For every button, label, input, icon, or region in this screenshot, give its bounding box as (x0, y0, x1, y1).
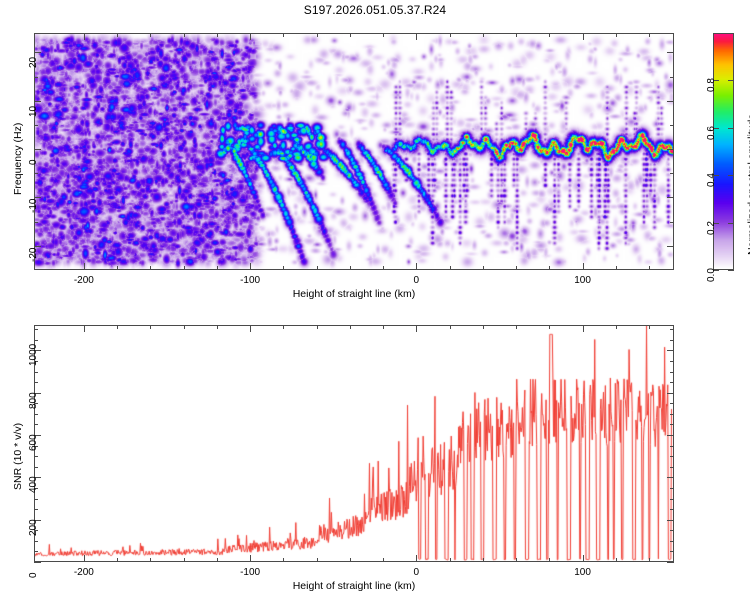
x-minor-tick (283, 33, 284, 37)
colorbar-tick (728, 128, 734, 129)
x-minor-tick (549, 325, 550, 329)
x-minor-tick (616, 33, 617, 37)
y-minor-tick (670, 382, 674, 383)
y-minor-tick (670, 77, 674, 78)
x-minor-tick (516, 558, 517, 562)
y-minor-tick (670, 499, 674, 500)
y-major-tick (667, 101, 674, 102)
y-minor-tick (670, 456, 674, 457)
x-minor-tick (184, 325, 185, 329)
y-major-tick (34, 52, 41, 53)
y-minor-tick (670, 372, 674, 373)
x-minor-tick (649, 33, 650, 37)
x-tick-label: 0 (386, 275, 446, 286)
x-minor-tick (150, 266, 151, 270)
x-minor-tick (450, 33, 451, 37)
spectrogram-x-axis-label: Height of straight line (km) (34, 288, 674, 300)
x-major-tick (416, 325, 417, 332)
y-tick-label: 0 (28, 160, 39, 166)
y-major-tick (667, 562, 674, 563)
y-minor-tick (34, 372, 38, 373)
x-minor-tick (616, 558, 617, 562)
y-tick-label: 1000 (28, 344, 39, 366)
y-minor-tick (34, 456, 38, 457)
colorbar-tick (728, 175, 734, 176)
y-minor-tick (34, 551, 38, 552)
x-minor-tick (283, 266, 284, 270)
x-minor-tick (383, 33, 384, 37)
x-minor-tick (483, 266, 484, 270)
y-minor-tick (670, 446, 674, 447)
x-minor-tick (317, 325, 318, 329)
x-minor-tick (350, 558, 351, 562)
x-tick-label: -100 (220, 567, 280, 578)
x-minor-tick (184, 266, 185, 270)
x-minor-tick (350, 266, 351, 270)
y-major-tick (667, 477, 674, 478)
y-minor-tick (670, 361, 674, 362)
x-minor-tick (184, 33, 185, 37)
x-major-tick (416, 263, 417, 270)
x-minor-tick (150, 325, 151, 329)
x-major-tick (250, 263, 251, 270)
figure-root: S197.2026.051.05.37.R24 -200-1000100 -20… (0, 0, 750, 600)
colorbar-tick-label: 0.4 (706, 173, 717, 187)
x-minor-tick (117, 325, 118, 329)
x-minor-tick (383, 325, 384, 329)
colorbar-tick-label: 0.8 (706, 78, 717, 92)
y-minor-tick (34, 541, 38, 542)
x-minor-tick (383, 266, 384, 270)
colorbar-tick (728, 270, 734, 271)
x-tick-label: 100 (553, 275, 613, 286)
snr-axes-frame (34, 325, 674, 562)
y-minor-tick (670, 551, 674, 552)
y-minor-tick (34, 173, 38, 174)
y-minor-tick (670, 541, 674, 542)
x-major-tick (583, 33, 584, 40)
spectrogram-image (35, 34, 673, 269)
y-major-tick (667, 435, 674, 436)
x-minor-tick (483, 325, 484, 329)
y-minor-tick (670, 530, 674, 531)
x-major-tick (583, 555, 584, 562)
y-major-tick (667, 246, 674, 247)
x-tick-label: -100 (220, 275, 280, 286)
x-minor-tick (217, 33, 218, 37)
y-minor-tick (34, 382, 38, 383)
x-minor-tick (217, 325, 218, 329)
y-minor-tick (670, 403, 674, 404)
y-minor-tick (34, 77, 38, 78)
x-minor-tick (483, 33, 484, 37)
y-major-tick (34, 562, 41, 563)
x-minor-tick (317, 33, 318, 37)
colorbar-tick-label: 0.0 (706, 268, 717, 282)
y-minor-tick (670, 125, 674, 126)
x-minor-tick (150, 33, 151, 37)
x-major-tick (583, 325, 584, 332)
x-major-tick (416, 33, 417, 40)
spectrogram-axes-frame (34, 33, 674, 270)
y-minor-tick (670, 488, 674, 489)
x-minor-tick (516, 33, 517, 37)
x-tick-label: 100 (553, 567, 613, 578)
x-minor-tick (649, 325, 650, 329)
x-minor-tick (649, 558, 650, 562)
y-minor-tick (34, 509, 38, 510)
y-tick-label: 20 (28, 57, 39, 68)
x-major-tick (583, 263, 584, 270)
x-minor-tick (483, 558, 484, 562)
colorbar-label: Normalized spectral amplitude (746, 114, 750, 255)
y-minor-tick (670, 414, 674, 415)
y-minor-tick (670, 173, 674, 174)
y-tick-label: -20 (28, 247, 39, 261)
x-major-tick (416, 555, 417, 562)
y-minor-tick (670, 424, 674, 425)
x-minor-tick (549, 558, 550, 562)
x-major-tick (84, 263, 85, 270)
figure-title: S197.2026.051.05.37.R24 (0, 3, 750, 17)
x-minor-tick (549, 33, 550, 37)
x-minor-tick (616, 325, 617, 329)
y-major-tick (667, 520, 674, 521)
snr-x-axis-label: Height of straight line (km) (34, 580, 674, 592)
x-minor-tick (184, 558, 185, 562)
y-tick-label: 400 (28, 477, 39, 494)
x-minor-tick (317, 266, 318, 270)
x-minor-tick (117, 558, 118, 562)
x-minor-tick (217, 558, 218, 562)
y-minor-tick (34, 467, 38, 468)
x-minor-tick (450, 266, 451, 270)
x-minor-tick (616, 266, 617, 270)
x-minor-tick (217, 266, 218, 270)
y-tick-label: 200 (28, 519, 39, 536)
y-major-tick (667, 52, 674, 53)
y-minor-tick (34, 329, 38, 330)
x-tick-label: -200 (54, 567, 114, 578)
colorbar-tick (728, 223, 734, 224)
y-tick-label: 10 (28, 106, 39, 117)
y-major-tick (667, 149, 674, 150)
y-minor-tick (34, 424, 38, 425)
colorbar-tick (728, 80, 734, 81)
y-minor-tick (34, 125, 38, 126)
x-minor-tick (549, 266, 550, 270)
y-minor-tick (670, 467, 674, 468)
x-minor-tick (649, 266, 650, 270)
x-major-tick (250, 325, 251, 332)
x-minor-tick (350, 33, 351, 37)
x-major-tick (84, 325, 85, 332)
y-minor-tick (34, 499, 38, 500)
y-tick-label: -10 (28, 199, 39, 213)
y-major-tick (34, 101, 41, 102)
x-tick-label: -200 (54, 275, 114, 286)
y-minor-tick (34, 222, 38, 223)
y-minor-tick (34, 340, 38, 341)
x-minor-tick (117, 266, 118, 270)
x-major-tick (250, 555, 251, 562)
y-minor-tick (34, 414, 38, 415)
y-minor-tick (670, 222, 674, 223)
x-minor-tick (117, 33, 118, 37)
y-tick-label: 800 (28, 392, 39, 409)
x-major-tick (250, 33, 251, 40)
x-tick-label: 0 (386, 567, 446, 578)
y-minor-tick (670, 340, 674, 341)
x-minor-tick (450, 325, 451, 329)
y-minor-tick (670, 509, 674, 510)
x-minor-tick (383, 558, 384, 562)
spectrogram-y-axis-label: Frequency (Hz) (12, 123, 24, 195)
y-minor-tick (670, 329, 674, 330)
snr-line-plot (35, 326, 673, 561)
y-tick-label: 600 (28, 434, 39, 451)
x-minor-tick (450, 558, 451, 562)
y-tick-label: 0 (28, 572, 39, 578)
x-minor-tick (317, 558, 318, 562)
x-minor-tick (516, 325, 517, 329)
y-major-tick (34, 149, 41, 150)
x-minor-tick (283, 558, 284, 562)
x-minor-tick (350, 325, 351, 329)
snr-y-axis-label: SNR (10 * v/v) (12, 423, 24, 490)
x-minor-tick (516, 266, 517, 270)
y-major-tick (667, 393, 674, 394)
x-major-tick (84, 33, 85, 40)
colorbar-tick-label: 0.6 (706, 126, 717, 140)
colorbar-tick-label: 0.2 (706, 221, 717, 235)
x-major-tick (84, 555, 85, 562)
y-major-tick (667, 197, 674, 198)
x-minor-tick (283, 325, 284, 329)
x-minor-tick (150, 558, 151, 562)
y-major-tick (667, 350, 674, 351)
